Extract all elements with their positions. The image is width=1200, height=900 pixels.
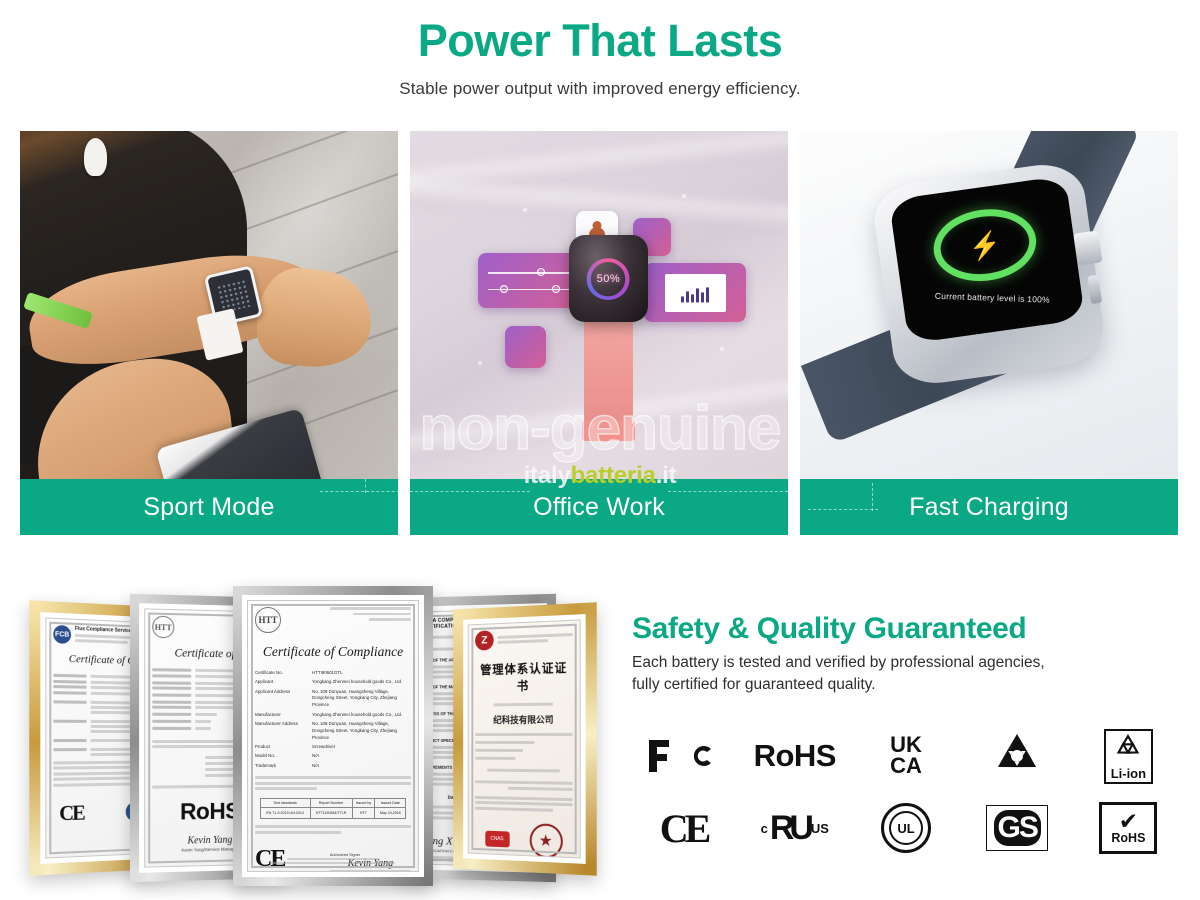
cert-field-value: Yongkang Zhenmei household goods Co., Lt… (312, 679, 411, 686)
certificate-htt-compliance[interactable]: HTT Certificate of Compliance Certificat… (233, 586, 433, 886)
fcb-logo-icon: FCB (53, 625, 71, 644)
table-header-cell: Issued Date (375, 799, 406, 808)
guarantee-title: Safety & Quality Guaranteed (632, 612, 1182, 646)
li-ion-recycle-icon (1113, 734, 1143, 760)
fcc-badge (647, 736, 721, 776)
table-cell: HTT (352, 808, 375, 819)
htt-logo-icon: HTT (255, 607, 281, 633)
feature-card-caption: Sport Mode (20, 479, 398, 535)
ce-mark: CE (59, 800, 84, 826)
cert-field-label: Model No. (255, 753, 308, 760)
fast-charging-photo: ⚡ Current battery level is 100% (800, 131, 1178, 479)
rohs-label: RoHS (754, 738, 836, 774)
smartwatch-face: 50% (569, 235, 648, 322)
ul-badge: UL (881, 803, 931, 853)
fcc-icon (647, 736, 721, 776)
caption-text: Office Work (533, 493, 665, 522)
cert-field-value: N/A (312, 763, 411, 770)
table-cell: HTT1190584/TTLR (310, 808, 352, 819)
cert-field-label: Applicant (255, 679, 308, 686)
battery-percent: 50% (597, 273, 621, 285)
guarantee-line-2: fully certified for guaranteed quality. (632, 676, 876, 693)
cert-field-value: No. 108 Donyuan, Huangsheng Village, Don… (312, 721, 411, 741)
cert-field-value: HTTI90601GTL (312, 670, 411, 677)
cert-title: 管理体系认证证书 (475, 658, 573, 694)
feature-card-caption: Office Work (410, 479, 788, 535)
table-cell: EN 71-3:2013+A3:2014 (260, 808, 310, 819)
feature-cards: Sport Mode (20, 131, 1180, 535)
ukca-badge: UK CA (890, 735, 922, 777)
table-header-cell: Issued by (352, 799, 375, 808)
recycle-icon (991, 732, 1043, 780)
page-subtitle: Stable power output with improved energy… (0, 79, 1200, 99)
cert-company: 纪科技有限公司 (475, 713, 573, 727)
cruus-prefix: c (761, 821, 768, 836)
cert-field-label: Trademark (255, 763, 308, 770)
cert-field-value: Yongkang Zhenmei household goods Co., Lt… (312, 712, 411, 719)
lightning-bolt-icon: ⚡ (967, 230, 1003, 260)
gs-label: GS (994, 810, 1041, 846)
check-icon: ✔ (1119, 811, 1138, 832)
cert-field-value: Screwdriver (312, 744, 411, 751)
chart-tile (644, 263, 746, 322)
li-ion-badge: Li-ion (1104, 729, 1153, 784)
watch-crown-icon (1073, 230, 1103, 266)
feature-card-sport-mode[interactable]: Sport Mode (20, 131, 398, 535)
gs-badge: GS (986, 805, 1048, 851)
watch-side-button (1088, 275, 1102, 304)
li-ion-label: Li-ion (1111, 766, 1146, 781)
red-star-seal-icon: ★ (529, 823, 562, 859)
guarantee-body: Each battery is tested and verified by p… (632, 652, 1182, 697)
rohs-check-badge: ✔ RoHS (1099, 802, 1157, 854)
cert-field-label: Manufacturer Address (255, 721, 308, 741)
cert-field-label: Certificate No. (255, 670, 308, 677)
caption-text: Sport Mode (143, 493, 274, 522)
table-cell: May 24,2018 (375, 808, 406, 819)
certification-badges: RoHS UK CA (628, 720, 1184, 864)
cruus-ru: RU (770, 809, 809, 848)
certificate-gallery: FCB Flux Compliance Services Certificate… (18, 582, 598, 882)
guarantee-block: Safety & Quality Guaranteed Each battery… (632, 612, 1182, 697)
ce-badge: CE (660, 805, 708, 852)
ul-label: UL (889, 811, 923, 845)
ukca-line-2: CA (890, 756, 922, 777)
table-row: EN 71-3:2013+A3:2014 HTT1190584/TTLR HTT… (260, 808, 406, 819)
table-header-cell: Test standards (260, 799, 310, 808)
cert-field-label: Applicant Address (255, 689, 308, 709)
z-logo-icon: Z (475, 630, 494, 650)
cnas-mark-icon: CNAS (485, 830, 509, 847)
caption-text: Fast Charging (909, 493, 1069, 522)
feature-card-caption: Fast Charging (800, 479, 1178, 535)
settings-tile (505, 326, 547, 368)
cert-title: Certificate of Compliance (255, 644, 411, 660)
rohs-check-label: RoHS (1111, 831, 1145, 845)
page-title: Power That Lasts (0, 14, 1200, 68)
cert-field-label: Product (255, 744, 308, 751)
certificate-china-system[interactable]: Z 管理体系认证证书 纪科技有限公司 CNAS ★ 认证有限公司 (453, 602, 597, 875)
page-header: Power That Lasts Stable power output wit… (0, 0, 1200, 99)
rohs-badge: RoHS (754, 738, 836, 774)
cert-results-table: Test standards Report Number Issued by I… (260, 798, 407, 819)
cruus-suffix: US (811, 821, 829, 836)
cruus-badge: c RU US (761, 809, 829, 848)
office-work-photo: 50% (410, 131, 788, 479)
sliders-tile (478, 253, 580, 309)
table-header-row: Test standards Report Number Issued by I… (260, 799, 406, 808)
guarantee-line-1: Each battery is tested and verified by p… (632, 654, 1045, 671)
sport-mode-photo (20, 131, 398, 479)
lower-section: FCB Flux Compliance Services Certificate… (0, 560, 1200, 900)
cert-field-value: No. 108 Donyuan, Huangsheng Village, Don… (312, 689, 411, 709)
ce-label: CE (660, 805, 708, 852)
authorized-signer-label: Authorized Signer (330, 853, 411, 857)
cert-field-value: N/A (312, 753, 411, 760)
feature-card-office-work[interactable]: 50% Office Work (410, 131, 788, 535)
htt-logo-icon: HTT (152, 616, 174, 639)
feature-card-fast-charging[interactable]: ⚡ Current battery level is 100% Fast Cha… (800, 131, 1178, 535)
cert-field-label: Manufacturer (255, 712, 308, 719)
battery-level-text: Current battery level is 100% (935, 290, 1050, 304)
recycle-badge (991, 732, 1043, 780)
table-header-cell: Report Number (310, 799, 352, 808)
